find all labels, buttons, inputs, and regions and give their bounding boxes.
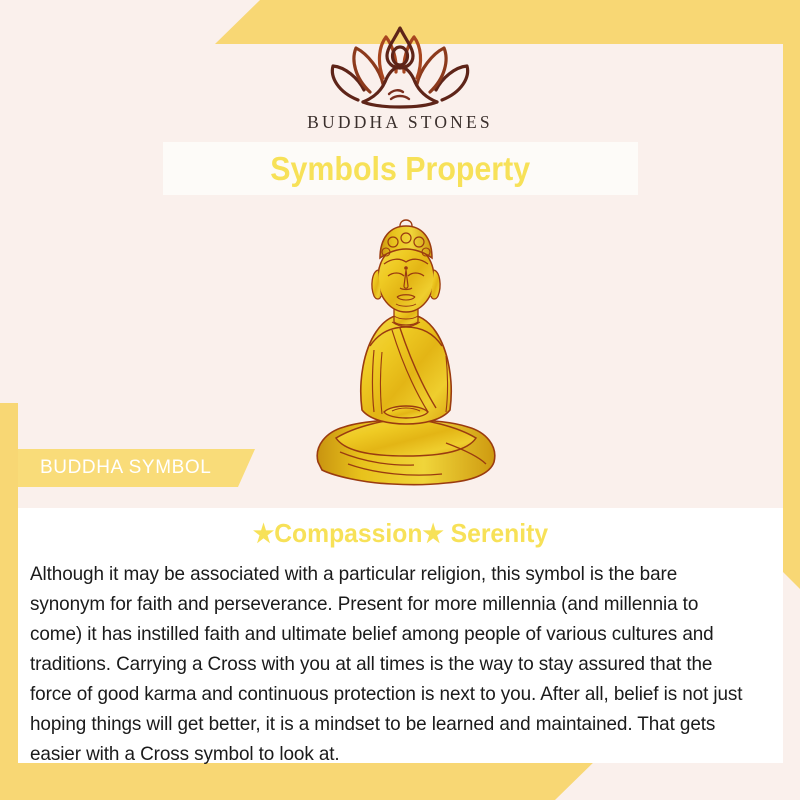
buddha-symbol-ribbon: BUDDHA SYMBOL xyxy=(18,449,255,487)
ribbon-label: BUDDHA SYMBOL xyxy=(18,457,211,479)
brand-wordmark: BUDDHA STONES xyxy=(0,112,800,133)
decor-left-yellow-strip xyxy=(0,403,18,800)
lotus-meditation-figure-icon xyxy=(325,22,475,110)
star-icon-right: ★ xyxy=(422,520,443,548)
content-panel: ★Compassion★ Serenity Although it may be… xyxy=(18,508,783,763)
attribute-serenity: Serenity xyxy=(451,518,548,548)
star-icon-left: ★ xyxy=(253,520,274,548)
title-plaque: Symbols Property xyxy=(163,142,638,195)
brand-logo-block: BUDDHA STONES xyxy=(0,22,800,133)
symbol-description-text: Although it may be associated with a par… xyxy=(30,559,749,769)
attributes-headline: ★Compassion★ Serenity xyxy=(37,518,764,549)
attribute-compassion: Compassion xyxy=(274,518,422,548)
poster-canvas: BUDDHA STONES Symbols Property xyxy=(0,0,800,800)
golden-seated-buddha-statue-icon xyxy=(296,200,516,490)
page-title: Symbols Property xyxy=(271,150,531,188)
buddha-illustration xyxy=(296,200,516,490)
